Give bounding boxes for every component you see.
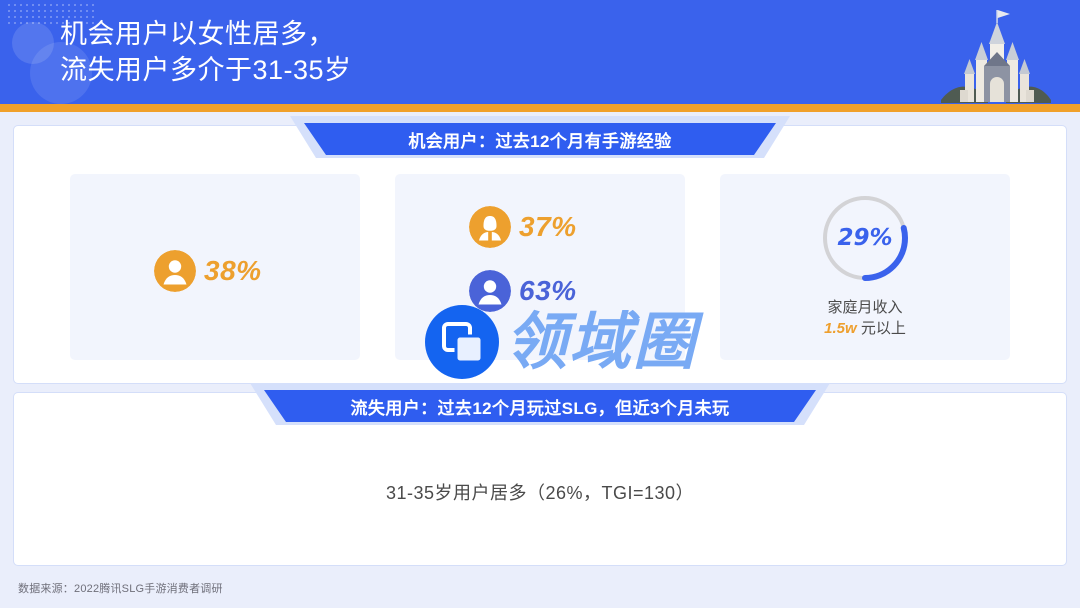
panel-gender-split: 37% 63% [395,174,685,360]
stat-value: 37% [519,213,577,241]
opportunity-users-card: 机会用户：过去12个月有手游经验 38% [14,126,1066,383]
income-amount: 1.5w [824,320,857,337]
data-source-note: 数据来源：2022腾讯SLG手游消费者调研 [18,580,223,596]
income-donut-group: 29% 家庭月收入 1.5w 元以上 [765,190,965,339]
banner-label: 机会用户：过去12个月有手游经验 [408,127,671,152]
page-title: 机会用户以女性居多， 流失用户多介于31-35岁 [60,16,352,88]
banner-inner-shape: 机会用户：过去12个月有手游经验 [304,123,776,155]
income-label: 家庭月收入 1.5w 元以上 [765,297,965,339]
panel-household-income: 29% 家庭月收入 1.5w 元以上 [720,174,1010,360]
churned-users-summary: 31-35岁用户居多（26%，TGI=130） [14,479,1066,505]
castle-icon [936,4,1056,104]
income-label-line2: 1.5w 元以上 [765,318,965,339]
stat-value: 63% [519,277,577,305]
income-donut-chart: 29% [817,190,913,286]
churned-users-banner: 流失用户：过去12个月玩过SLG，但近3个月未玩 [250,383,830,425]
banner-inner-shape: 流失用户：过去12个月玩过SLG，但近3个月未玩 [264,390,816,422]
income-amount-suffix: 元以上 [857,320,906,337]
banner-label: 流失用户：过去12个月玩过SLG，但近3个月未玩 [351,394,730,419]
user-person-icon [154,250,196,292]
opportunity-users-banner: 机会用户：过去12个月有手游经验 [290,116,790,158]
stat-female: 37% [469,206,577,248]
stat-male: 63% [469,270,577,312]
page-header: 机会用户以女性居多， 流失用户多介于31-35岁 [0,0,1080,104]
income-label-line1: 家庭月收入 [765,297,965,318]
stat-overall: 38% [154,250,262,292]
stat-value: 38% [204,257,262,285]
panel-mobile-game-experience: 38% [70,174,360,360]
user-male-icon [469,270,511,312]
donut-value: 29% [837,225,892,251]
header-accent-stripe [0,104,1080,112]
churned-users-card: 流失用户：过去12个月玩过SLG，但近3个月未玩 31-35岁用户居多（26%，… [14,393,1066,565]
user-female-icon [469,206,511,248]
stat-panels: 38% 37% 63% [70,174,1010,360]
